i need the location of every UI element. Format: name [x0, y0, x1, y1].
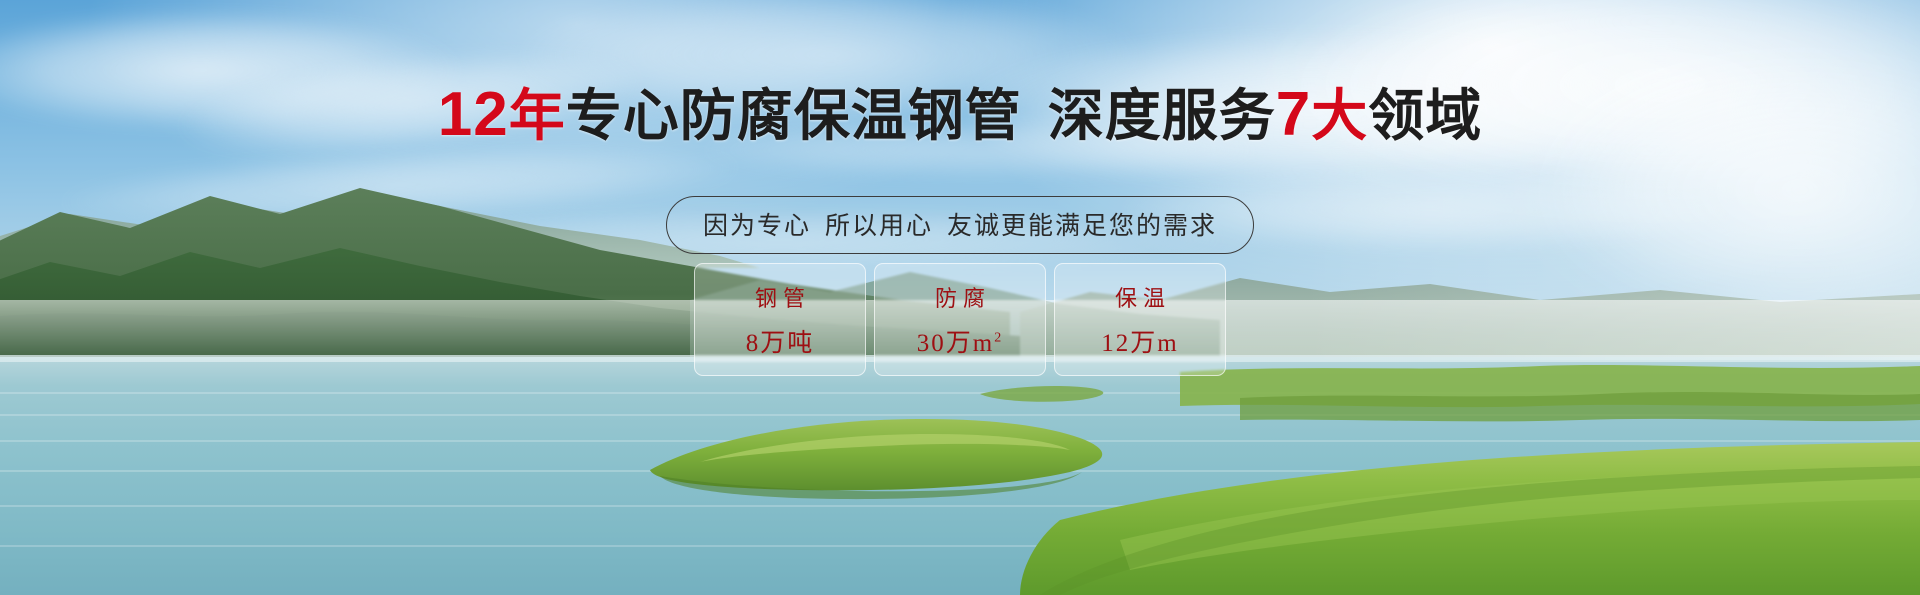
headline-service-text: 深度服务: [1048, 84, 1276, 147]
subtitle-pill: 因为专心所以用心友诚更能满足您的需求: [666, 196, 1254, 254]
subtitle-part-1: 因为专心: [703, 212, 811, 240]
banner-headline: 12年专心防腐保温钢管深度服务7大领域: [0, 82, 1920, 147]
headline-years-number: 12: [438, 80, 509, 149]
stat-card-value: 30万m2: [917, 323, 1003, 359]
stat-card-superscript: 2: [994, 330, 1003, 345]
stat-card-title: 防腐: [929, 281, 991, 313]
stat-card-title: 保温: [1109, 281, 1171, 313]
stat-card-value: 8万吨: [746, 323, 815, 359]
right-light-haze: [1300, 0, 1920, 360]
headline-highlight-number: 7: [1276, 80, 1311, 149]
stat-card-insulation: 保温 12万m: [1054, 263, 1226, 376]
hero-banner: 12年专心防腐保温钢管深度服务7大领域 因为专心所以用心友诚更能满足您的需求 钢…: [0, 0, 1920, 595]
stat-card-steel-pipe: 钢管 8万吨: [694, 263, 866, 376]
stat-card-title: 钢管: [749, 281, 811, 313]
subtitle-part-2: 所以用心: [825, 212, 933, 240]
subtitle-part-3: 友诚更能满足您的需求: [947, 212, 1217, 240]
headline-main-text: 专心防腐保温钢管: [566, 84, 1022, 147]
marsh-strip-2: [1240, 392, 1920, 421]
stat-card-anticorrosion: 防腐 30万m2: [874, 263, 1046, 376]
stat-card-group: 钢管 8万吨 防腐 30万m2 保温 12万m: [694, 263, 1226, 376]
headline-years-unit: 年: [509, 84, 566, 147]
subtitle-wrapper: 因为专心所以用心友诚更能满足您的需求: [0, 196, 1920, 254]
headline-tail-text: 领域: [1368, 84, 1482, 147]
stat-card-value: 12万m: [1101, 323, 1178, 359]
headline-tail-da: 大: [1311, 84, 1368, 147]
